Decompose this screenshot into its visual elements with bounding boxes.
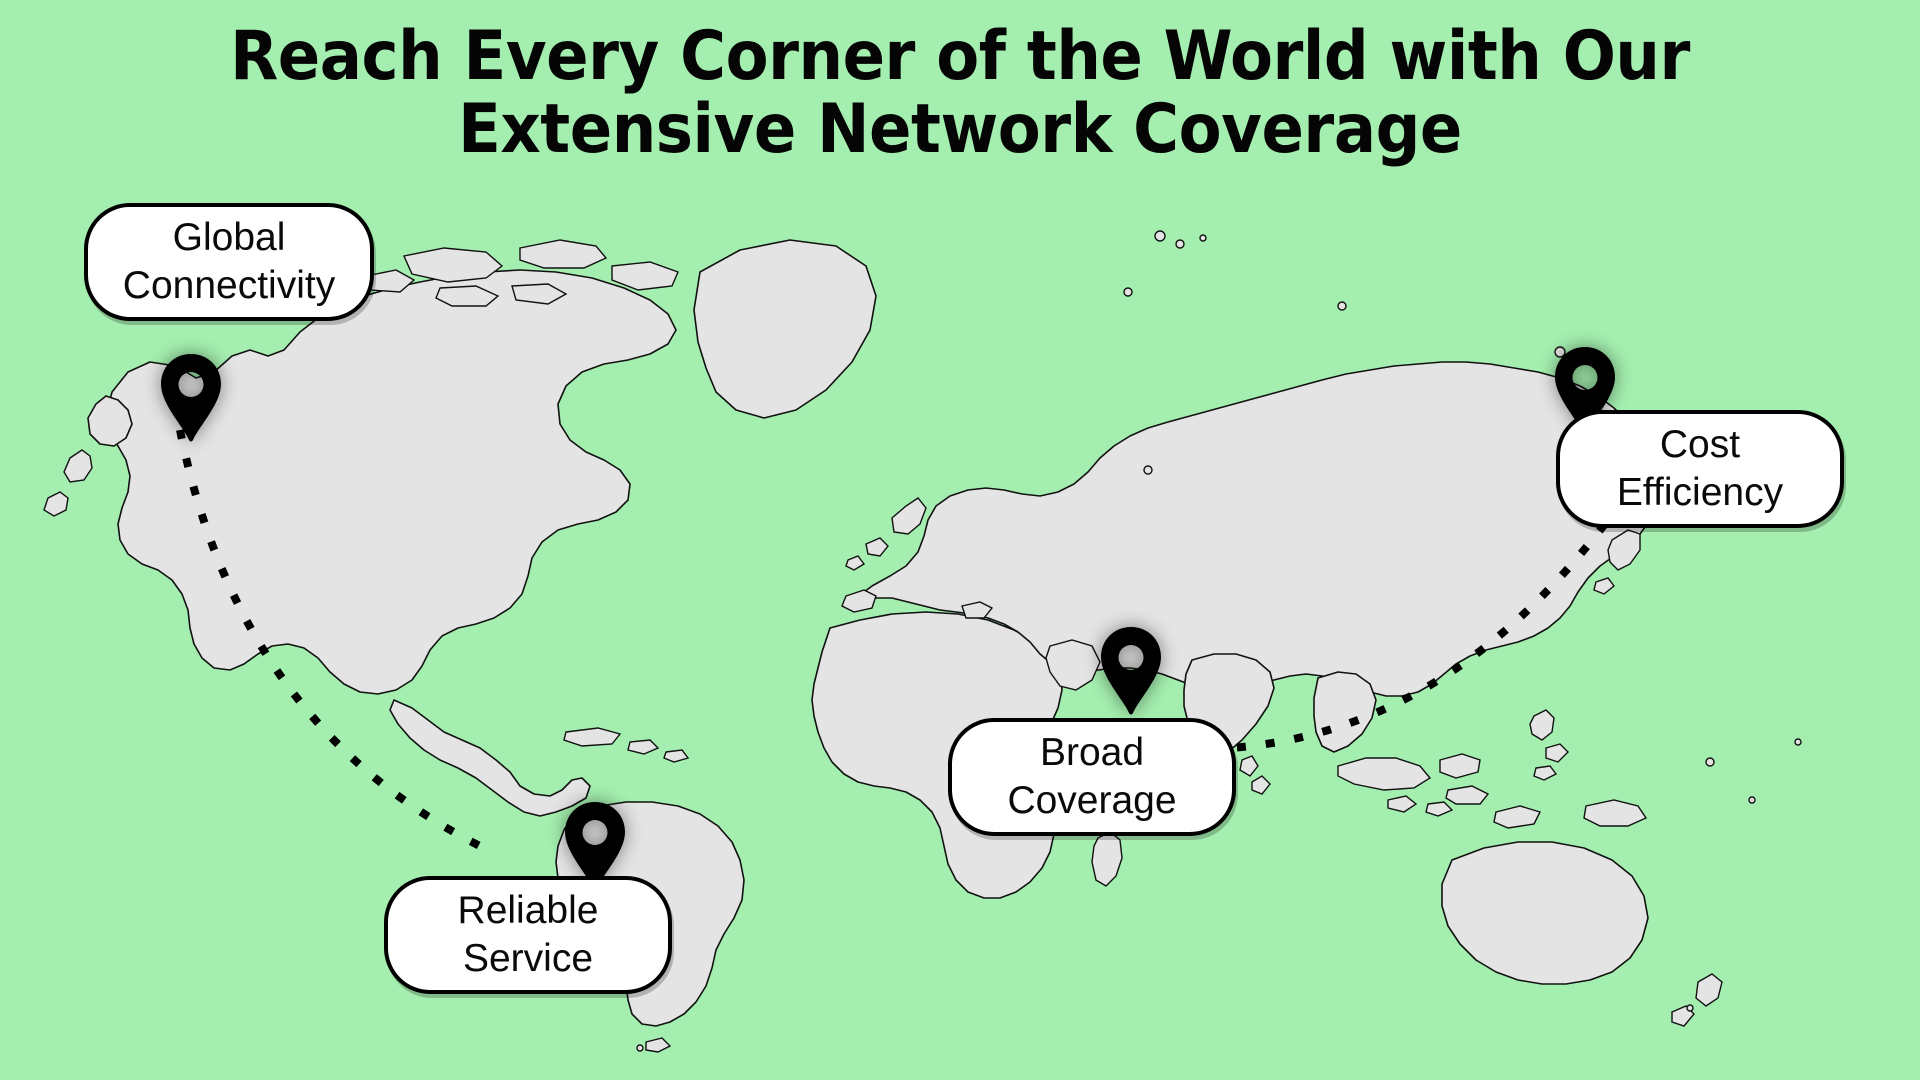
callout-label-reliable-service: Reliable Service bbox=[458, 887, 599, 982]
callout-reliable-service[interactable]: Reliable Service bbox=[384, 876, 672, 994]
poster-canvas: Reach Every Corner of the World with Our… bbox=[0, 0, 1920, 1080]
callout-label-cost-efficiency: Cost Efficiency bbox=[1617, 421, 1783, 516]
page-title: Reach Every Corner of the World with Our… bbox=[77, 20, 1843, 167]
callout-broad-coverage[interactable]: Broad Coverage bbox=[948, 718, 1236, 836]
callout-global-connectivity[interactable]: Global Connectivity bbox=[84, 203, 374, 321]
callout-label-global-connectivity: Global Connectivity bbox=[123, 214, 335, 309]
map-pin-icon-broad-coverage[interactable] bbox=[1098, 625, 1164, 717]
callout-label-broad-coverage: Broad Coverage bbox=[1007, 729, 1176, 824]
callout-cost-efficiency[interactable]: Cost Efficiency bbox=[1556, 410, 1844, 528]
map-pin-icon-global-connectivity[interactable] bbox=[158, 352, 224, 444]
